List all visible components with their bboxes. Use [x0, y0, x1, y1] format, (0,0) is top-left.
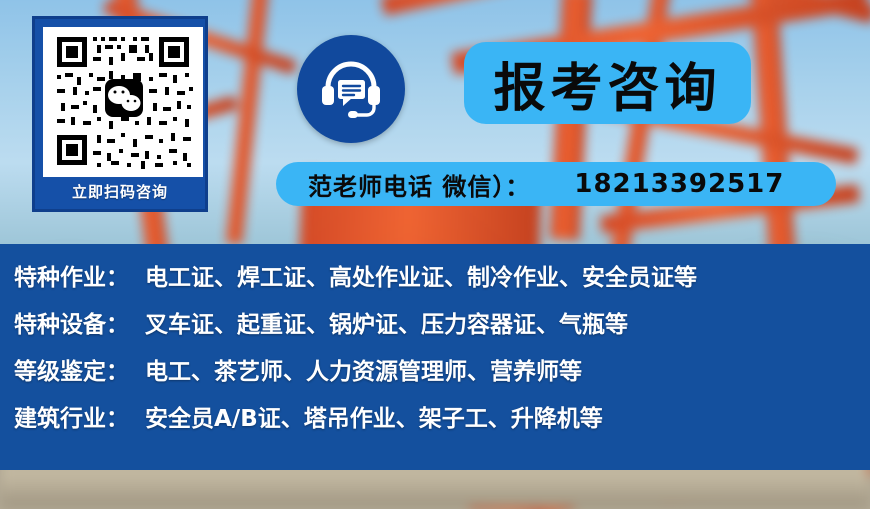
wechat-qr-code-icon[interactable] — [43, 27, 203, 177]
table-row: 特种作业： 电工证、焊工证、高处作业证、制冷作业、安全员证等 — [0, 258, 870, 305]
category-items: 电工证、焊工证、高处作业证、制冷作业、安全员证等 — [145, 258, 697, 292]
category-label: 特种作业： — [14, 258, 129, 292]
title-pill: 报考咨询 — [464, 42, 751, 124]
qr-card-label: 立即扫码咨询 — [43, 177, 197, 211]
category-items: 叉车证、起重证、锅炉证、压力容器证、气瓶等 — [145, 305, 628, 339]
qr-card[interactable]: 立即扫码咨询 — [32, 16, 208, 212]
promo-poster: 立即扫码咨询 报考咨询 范老师电话 微信）： 18213392517 特种 — [0, 0, 870, 509]
phone-number[interactable]: 18213392517 — [574, 169, 784, 199]
category-items: 安全员A/B证、塔吊作业、架子工、升降机等 — [145, 399, 603, 433]
category-label: 等级鉴定： — [14, 352, 129, 386]
table-row: 建筑行业： 安全员A/B证、塔吊作业、架子工、升降机等 — [0, 399, 870, 446]
title-text: 报考咨询 — [493, 46, 721, 121]
course-categories-panel: 特种作业： 电工证、焊工证、高处作业证、制冷作业、安全员证等 特种设备： 叉车证… — [0, 244, 870, 470]
category-label: 特种设备： — [14, 305, 129, 339]
phone-pill[interactable]: 范老师电话 微信）： 18213392517 — [276, 162, 836, 206]
headset-support-icon[interactable] — [297, 35, 405, 143]
category-label: 建筑行业： — [14, 399, 129, 433]
contact-label: 范老师电话 微信）： — [308, 167, 530, 202]
table-row: 等级鉴定： 电工、茶艺师、人力资源管理师、营养师等 — [0, 352, 870, 399]
category-items: 电工、茶艺师、人力资源管理师、营养师等 — [145, 352, 582, 386]
table-row: 特种设备： 叉车证、起重证、锅炉证、压力容器证、气瓶等 — [0, 305, 870, 352]
